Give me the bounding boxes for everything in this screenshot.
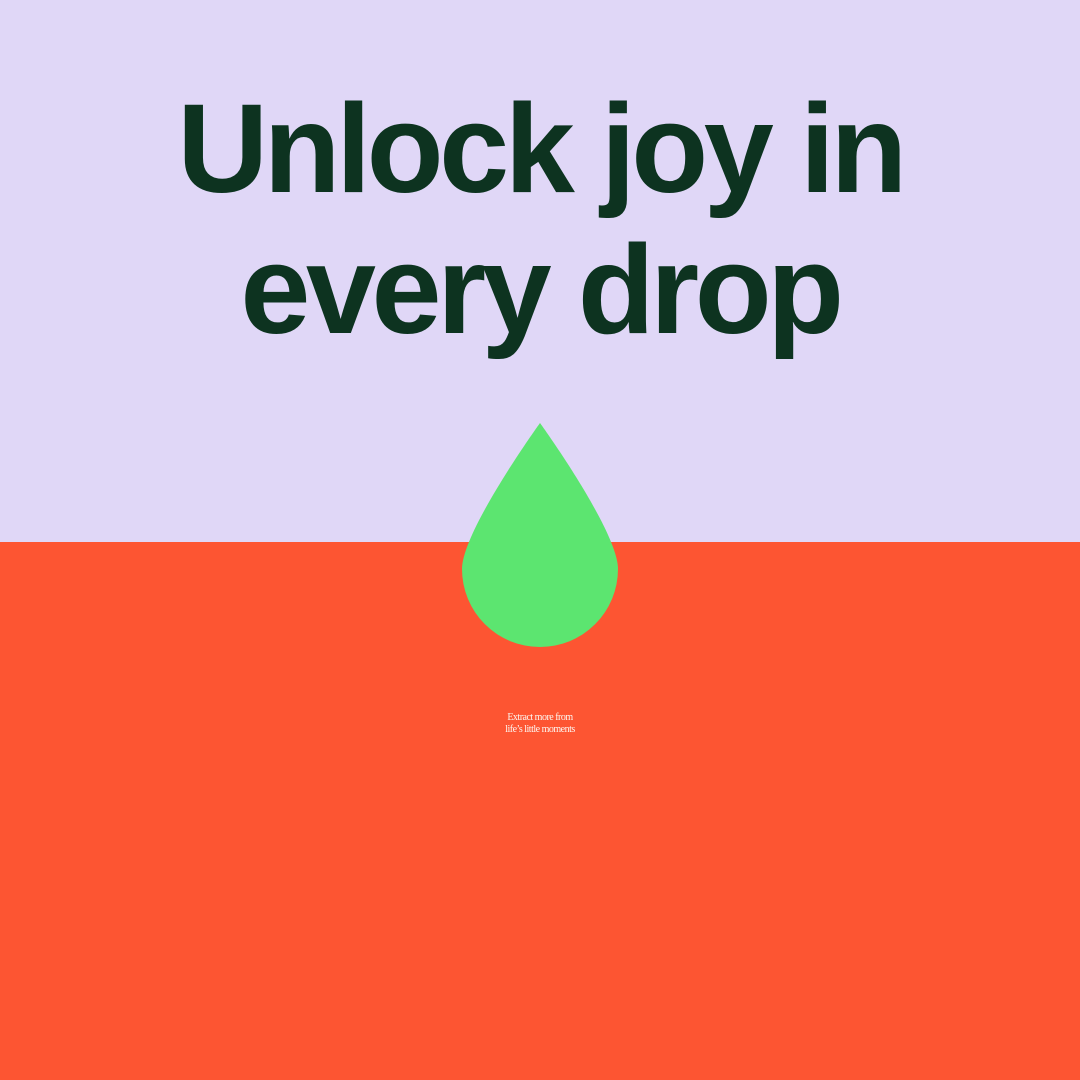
subhead-line-2: life’s little moments <box>0 724 1080 736</box>
water-droplet-icon <box>462 423 618 647</box>
headline-line-1: Unlock joy in <box>60 78 1020 219</box>
subhead: Extract more from life’s little moments <box>0 712 1080 736</box>
headline-line-2: every drop <box>60 219 1020 360</box>
promo-poster: Unlock joy in every drop Extract more fr… <box>0 0 1080 1080</box>
subhead-line-1: Extract more from <box>0 712 1080 724</box>
